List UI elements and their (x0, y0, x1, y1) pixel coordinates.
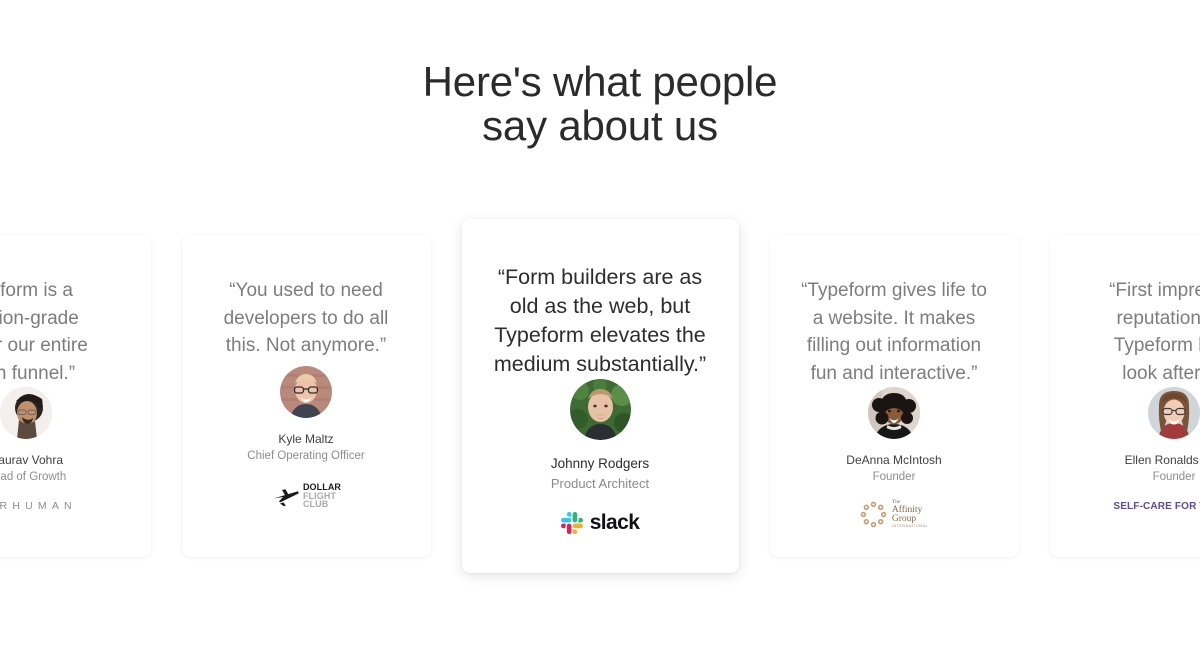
avatar (0, 387, 52, 439)
slack-logo: slack (561, 511, 640, 535)
dfc-line-3: CLUB (303, 500, 341, 509)
testimonial-person: Gaurav Vohra Head of Growth (0, 387, 131, 486)
person-role: Product Architect (551, 475, 649, 493)
superhuman-logo: PERHUMAN (0, 500, 77, 512)
airplane-icon (271, 484, 301, 508)
dollar-flight-club-logo: DOLLAR FLIGHT CLUB (271, 483, 341, 509)
affinity-wordmark: The Affinity Group INTERNATIONAL (892, 500, 928, 529)
testimonial-quote: “Form builders are as old as the web, bu… (478, 263, 723, 379)
company-logo: DOLLAR FLIGHT CLUB (202, 479, 411, 513)
testimonial-card[interactable]: peform is a uction-grade n for our entir… (0, 235, 151, 557)
affinity-sub: INTERNATIONAL (892, 525, 928, 529)
testimonial-person: DeAnna McIntosh Founder (790, 387, 999, 486)
testimonial-quote: “Typeform gives life to a website. It ma… (790, 277, 999, 387)
affinity-ring-icon (860, 501, 887, 528)
person-name: Gaurav Vohra (0, 452, 63, 468)
person-name: DeAnna McIntosh (846, 452, 941, 468)
page-title-line-2: say about us (0, 104, 1200, 148)
testimonial-person: Kyle Maltz Chief Operating Officer (202, 366, 411, 465)
testimonial-quote: peform is a uction-grade n for our entir… (0, 277, 131, 387)
testimonial-quote: “First impressio reputations m Typeform … (1070, 277, 1200, 387)
page-title-line-1: Here's what people (0, 60, 1200, 104)
company-logo: PERHUMAN (0, 500, 131, 513)
company-logo: SELF-CARE FOR TEACH (1070, 500, 1200, 513)
company-logo: The Affinity Group INTERNATIONAL (790, 500, 999, 529)
avatar (280, 366, 332, 418)
person-name: Ellen Ronalds Kee (1125, 452, 1200, 468)
company-logo: slack (478, 511, 723, 535)
person-role: Chief Operating Officer (247, 449, 364, 465)
testimonial-quote: “You used to need developers to do all t… (202, 277, 411, 360)
affinity-name: Affinity Group (892, 506, 922, 525)
slack-wordmark: slack (590, 511, 640, 535)
avatar (868, 387, 920, 439)
avatar (570, 379, 631, 440)
page-title: Here's what people say about us (0, 60, 1200, 148)
testimonial-person: Ellen Ronalds Kee Founder (1070, 387, 1200, 486)
avatar (1148, 387, 1200, 439)
slack-hash-icon (561, 512, 583, 534)
testimonial-card[interactable]: “You used to need developers to do all t… (182, 235, 431, 557)
self-care-for-teachers-logo: SELF-CARE FOR TEACH (1113, 501, 1200, 512)
person-role: Founder (1153, 470, 1196, 486)
person-name: Kyle Maltz (278, 431, 333, 447)
testimonial-card-featured[interactable]: “Form builders are as old as the web, bu… (462, 219, 739, 573)
testimonial-card[interactable]: “Typeform gives life to a website. It ma… (770, 235, 1019, 557)
testimonial-person: Johnny Rodgers Product Architect (478, 379, 723, 493)
person-name: Johnny Rodgers (551, 455, 649, 473)
person-role: Head of Growth (0, 470, 66, 486)
testimonial-card[interactable]: “First impressio reputations m Typeform … (1050, 235, 1200, 557)
testimonials-page: Here's what people say about us peform i… (0, 0, 1200, 661)
dollar-flight-club-wordmark: DOLLAR FLIGHT CLUB (303, 483, 341, 509)
testimonial-carousel[interactable]: peform is a uction-grade n for our entir… (0, 219, 1200, 579)
affinity-group-logo: The Affinity Group INTERNATIONAL (860, 500, 928, 529)
person-role: Founder (873, 470, 916, 486)
